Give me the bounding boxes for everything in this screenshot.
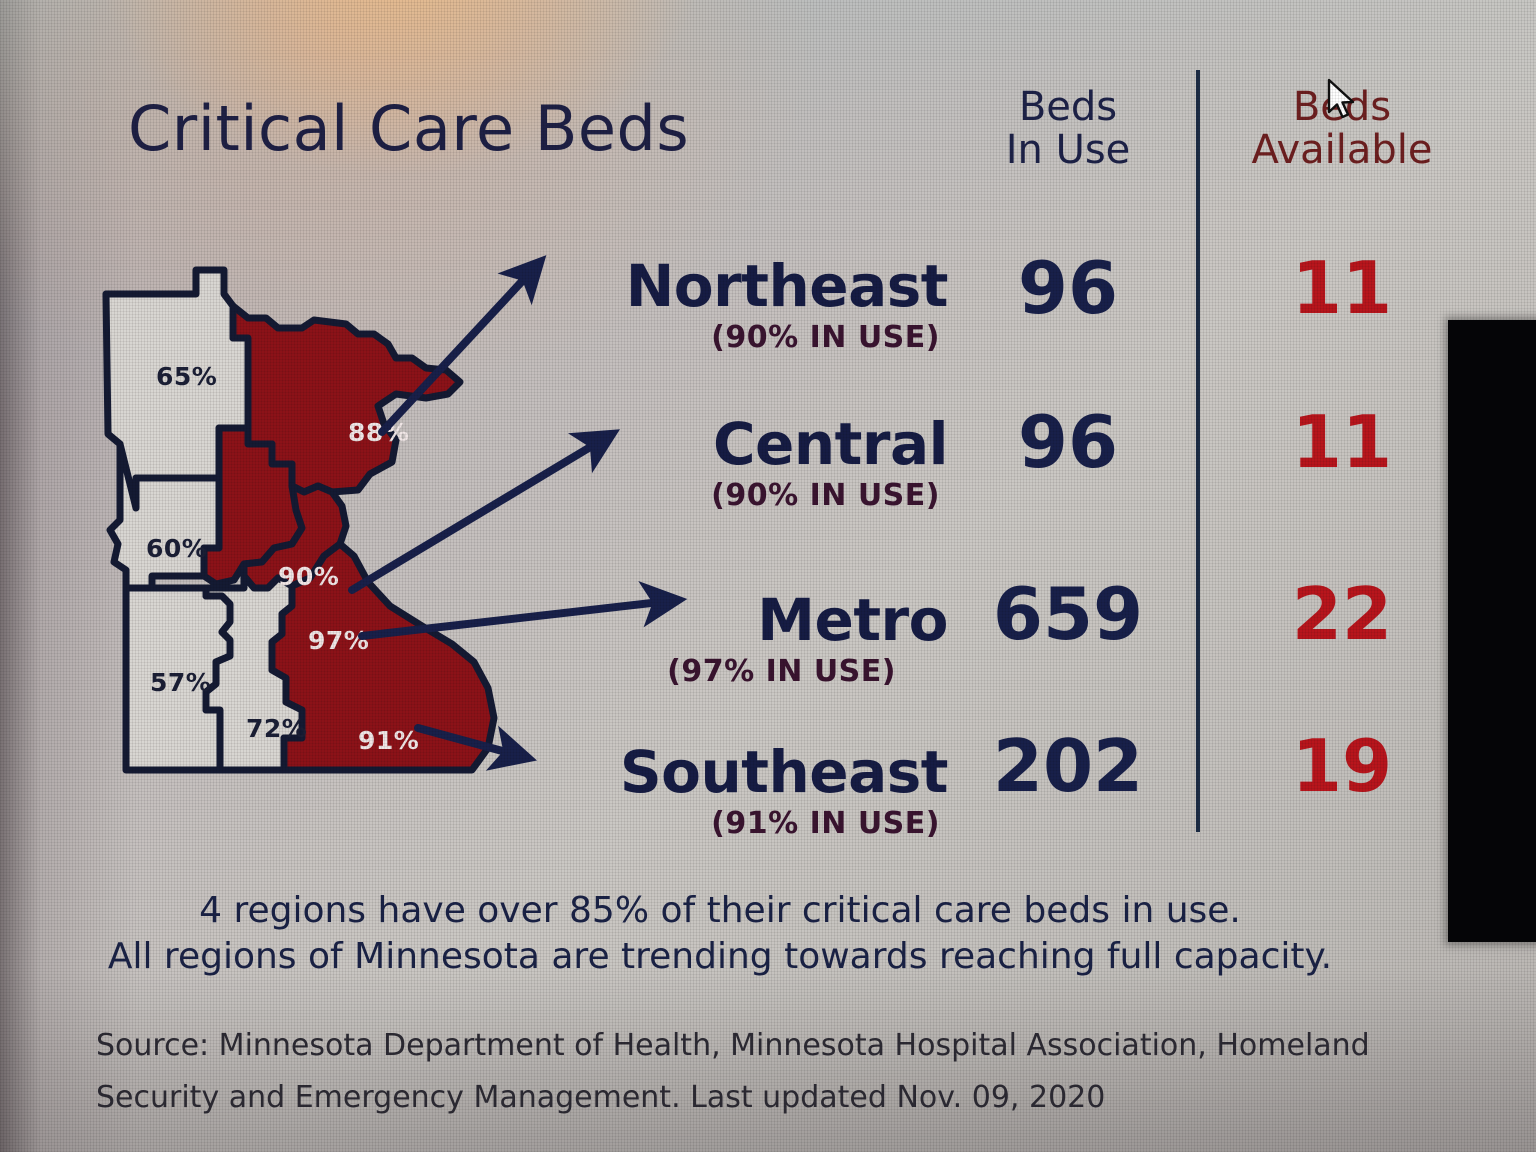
region-usage-note: (90% IN USE): [711, 478, 940, 513]
beds-in-use-value: 659: [952, 572, 1184, 656]
map-label-west-central: 60%: [146, 534, 207, 563]
summary-line-1: 4 regions have over 85% of their critica…: [0, 890, 1440, 931]
mouse-cursor: [1326, 78, 1360, 129]
beds-in-use-value: 202: [952, 724, 1184, 808]
map-label-northeast: 88%: [348, 418, 409, 447]
column-header-beds-in-use-line1: Beds: [960, 86, 1176, 129]
region-usage-note: (91% IN USE): [711, 806, 940, 841]
beds-in-use-value: 96: [960, 400, 1176, 484]
region-label: Northeast: [626, 252, 948, 320]
table-row: Metro (97% IN USE): [556, 572, 948, 692]
page-title: Critical Care Beds: [128, 92, 689, 165]
region-label: Central: [713, 410, 948, 478]
column-divider: [1196, 70, 1200, 832]
column-header-beds-available-line2: Available: [1216, 129, 1468, 172]
source-line-2: Security and Emergency Management. Last …: [96, 1080, 1105, 1115]
beds-in-use-value: 96: [960, 246, 1176, 330]
region-usage-note: (90% IN USE): [711, 320, 940, 355]
beds-available-value: 19: [1216, 724, 1468, 808]
map-label-south-central: 72%: [246, 714, 307, 743]
region-usage-note: (97% IN USE): [667, 654, 896, 689]
table-row: Northeast (90% IN USE): [556, 238, 948, 358]
minnesota-region-map: 65% 88% 60% 90% 97% 57% 72% 91%: [96, 248, 516, 818]
map-label-southwest: 57%: [150, 668, 211, 697]
source-line-1: Source: Minnesota Department of Health, …: [96, 1028, 1370, 1063]
region-label: Metro: [757, 586, 948, 654]
summary-line-2: All regions of Minnesota are trending to…: [0, 936, 1440, 977]
map-label-central: 90%: [278, 562, 339, 591]
column-header-beds-in-use: Beds In Use: [960, 86, 1176, 172]
beds-available-value: 22: [1216, 572, 1468, 656]
region-label: Southeast: [620, 738, 948, 806]
map-label-northwest: 65%: [156, 362, 217, 391]
table-row: Central (90% IN USE): [556, 396, 948, 516]
beds-available-value: 11: [1216, 246, 1468, 330]
column-header-beds-in-use-line2: In Use: [960, 129, 1176, 172]
table-row: Southeast (91% IN USE): [548, 724, 948, 844]
beds-available-value: 11: [1216, 400, 1468, 484]
screen-photo: Critical Care Beds Beds In Use Beds Avai…: [0, 0, 1536, 1152]
page-title-text: Critical Care Beds: [128, 92, 689, 165]
black-overlay-panel: [1448, 320, 1536, 942]
map-label-metro: 97%: [308, 626, 369, 655]
map-label-southeast: 91%: [358, 726, 419, 755]
